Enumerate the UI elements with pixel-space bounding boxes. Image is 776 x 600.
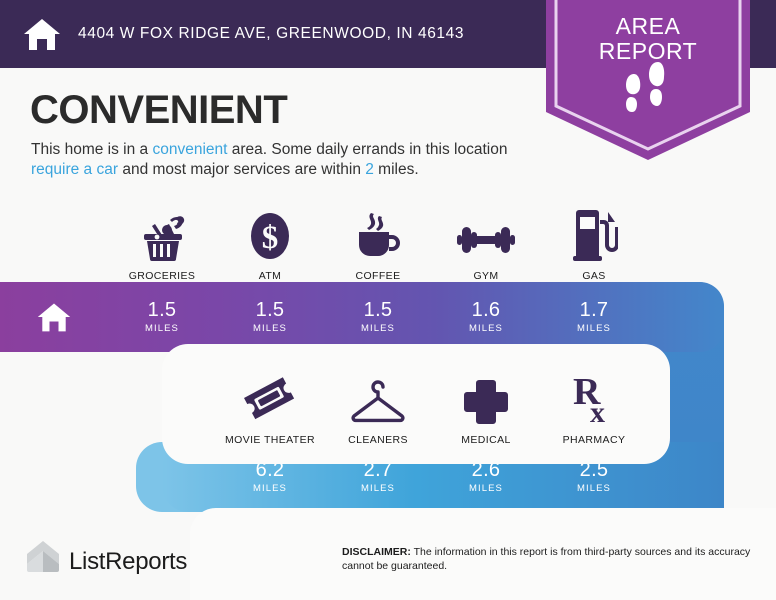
- distance-cell: 1.5 MILES: [108, 282, 216, 352]
- disclaimer: DISCLAIMER: The information in this repo…: [342, 546, 754, 573]
- listreports-logo[interactable]: ListReports: [26, 540, 187, 583]
- category-pharmacy[interactable]: R x PHARMACY: [540, 362, 648, 446]
- hanger-icon: [348, 370, 408, 426]
- distance-cell: 1.5 MILES: [324, 282, 432, 352]
- category-label: COFFEE: [356, 270, 401, 282]
- home-icon: [22, 14, 62, 54]
- home-marker: [0, 282, 108, 352]
- category-label: GYM: [473, 270, 498, 282]
- listreports-wordmark: ListReports: [69, 548, 187, 576]
- category-row-bottom: MOVIE THEATER CLEANERS MEDICAL: [216, 362, 648, 446]
- category-label: CLEANERS: [348, 434, 408, 446]
- category-groceries[interactable]: GROCERIES: [108, 198, 216, 282]
- category-label: GROCERIES: [129, 270, 196, 282]
- distance-value: 1.5: [364, 300, 393, 321]
- distance-value: 1.6: [472, 300, 501, 321]
- medical-cross-icon: [462, 370, 510, 426]
- badge-line-2: REPORT: [546, 39, 750, 64]
- distance-row-top: 1.5 MILES 1.5 MILES 1.5 MILES 1.6 MILES …: [0, 282, 724, 352]
- area-report-badge: AREA REPORT: [546, 0, 750, 160]
- category-gym[interactable]: GYM: [432, 198, 540, 282]
- category-label: PHARMACY: [563, 434, 626, 446]
- icon-spacer: [0, 198, 108, 282]
- svg-text:x: x: [590, 396, 605, 426]
- summary-highlight-convenient: convenient: [152, 141, 227, 158]
- distance-cell: 1.5 MILES: [216, 282, 324, 352]
- listreports-house-icon: [26, 540, 60, 583]
- badge-line-1: AREA: [546, 14, 750, 39]
- summary-text: This home is in a convenient area. Some …: [31, 140, 531, 180]
- category-row-top: GROCERIES $ ATM: [0, 198, 648, 282]
- gas-pump-icon: [570, 206, 618, 262]
- distance-unit: MILES: [469, 323, 503, 334]
- summary-part-3: and most major services are within: [118, 161, 365, 178]
- distance-unit: MILES: [361, 483, 395, 494]
- groceries-basket-icon: [136, 206, 188, 262]
- distance-cell: 1.6 MILES: [432, 282, 540, 352]
- summary-part-2: area. Some daily errands in this locatio…: [227, 141, 507, 158]
- distance-unit: MILES: [253, 323, 287, 334]
- distance-value: 1.5: [148, 300, 177, 321]
- dumbbell-icon: [457, 206, 515, 262]
- distance-unit: MILES: [361, 323, 395, 334]
- distance-unit: MILES: [577, 323, 611, 334]
- distance-unit: MILES: [577, 483, 611, 494]
- distance-value: 1.5: [256, 300, 285, 321]
- property-address: 4404 W FOX RIDGE AVE, GREENWOOD, IN 4614…: [78, 25, 464, 43]
- category-cleaners[interactable]: CLEANERS: [324, 362, 432, 446]
- distance-cell: 1.7 MILES: [540, 282, 648, 352]
- svg-text:$: $: [262, 220, 279, 256]
- disclaimer-label: DISCLAIMER:: [342, 546, 411, 558]
- pharmacy-rx-icon: R x: [569, 370, 619, 426]
- coffee-cup-icon: [351, 206, 405, 262]
- area-report-infographic: 4404 W FOX RIDGE AVE, GREENWOOD, IN 4614…: [0, 0, 776, 600]
- movie-ticket-icon: [242, 370, 298, 426]
- summary-highlight-miles: 2: [365, 161, 374, 178]
- category-label: ATM: [259, 270, 282, 282]
- distance-value: 1.7: [580, 300, 609, 321]
- category-label: MOVIE THEATER: [225, 434, 315, 446]
- distance-unit: MILES: [469, 483, 503, 494]
- category-medical[interactable]: MEDICAL: [432, 362, 540, 446]
- distance-unit: MILES: [253, 483, 287, 494]
- badge-text: AREA REPORT: [546, 14, 750, 64]
- category-label: GAS: [582, 270, 605, 282]
- summary-part-1: This home is in a: [31, 141, 152, 158]
- category-gas[interactable]: GAS: [540, 198, 648, 282]
- category-coffee[interactable]: COFFEE: [324, 198, 432, 282]
- category-movie-theater[interactable]: MOVIE THEATER: [216, 362, 324, 446]
- summary-part-4: miles.: [374, 161, 419, 178]
- dollar-coin-icon: $: [245, 206, 295, 262]
- page-title: CONVENIENT: [30, 88, 287, 133]
- category-atm[interactable]: $ ATM: [216, 198, 324, 282]
- summary-highlight-require-a-car: require a car: [31, 161, 118, 178]
- distance-unit: MILES: [145, 323, 179, 334]
- category-label: MEDICAL: [461, 434, 510, 446]
